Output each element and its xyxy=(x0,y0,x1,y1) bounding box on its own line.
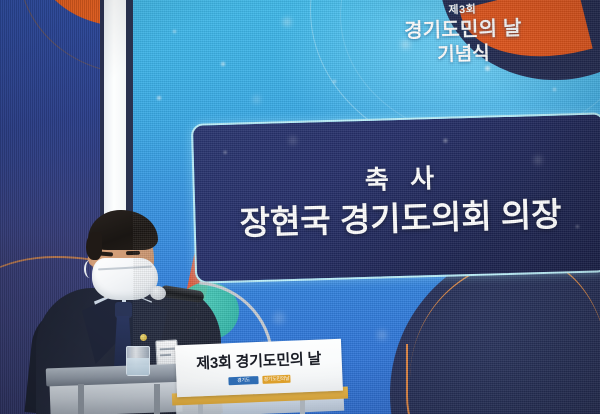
face-mask xyxy=(92,258,158,300)
sparkle xyxy=(173,30,176,33)
sparkle xyxy=(377,330,387,340)
podium-sign: 제3회 경기도민의 날 경기도 경기도민의날 xyxy=(175,339,343,398)
frame-bar xyxy=(300,398,305,414)
speaker-title-panel: 축 사 장현국 경기도의회 의장 xyxy=(191,112,600,283)
podium-sign-title: 제3회 경기도민의 날 xyxy=(196,352,321,373)
badge-text-line xyxy=(160,354,171,357)
face-mask-strap xyxy=(84,260,96,278)
podium-sign-logos: 경기도 경기도민의날 xyxy=(228,374,290,384)
water-level xyxy=(127,358,149,375)
water-glass xyxy=(126,346,150,376)
event-sponsor-logo: 경기도민의날 xyxy=(262,374,290,383)
podium-leg-left xyxy=(78,384,84,414)
thin-arc-line xyxy=(19,0,104,86)
sparkle xyxy=(289,137,296,144)
sparkle xyxy=(157,96,161,100)
photo-stage: 제3회 경기도민의 날 기념식 축 사 장현국 경기도의회 의장 xyxy=(0,0,600,414)
panel-line-congratulatory: 축 사 xyxy=(358,163,442,196)
sparkle xyxy=(534,156,542,164)
sparkle xyxy=(333,80,336,83)
sparkle xyxy=(553,88,556,91)
lapel-pin xyxy=(140,334,147,341)
necktie-knot xyxy=(115,302,132,318)
sparkle xyxy=(224,151,227,154)
sparkle xyxy=(576,225,579,228)
eye-right xyxy=(126,251,140,255)
badge-text-line xyxy=(160,348,175,351)
sparkle xyxy=(485,66,490,71)
gyeonggi-province-logo: 경기도 xyxy=(228,376,258,385)
event-headline: 제3회 경기도민의 날 기념식 xyxy=(342,1,583,70)
sparkle xyxy=(283,18,291,26)
sparkle xyxy=(221,62,225,66)
orange-curve-right-2 xyxy=(406,344,526,414)
sparkle xyxy=(253,96,260,103)
sparkle xyxy=(443,139,447,143)
hair-sideburn xyxy=(86,232,102,260)
podium-leg-right xyxy=(154,384,160,414)
sparkle xyxy=(273,312,285,324)
